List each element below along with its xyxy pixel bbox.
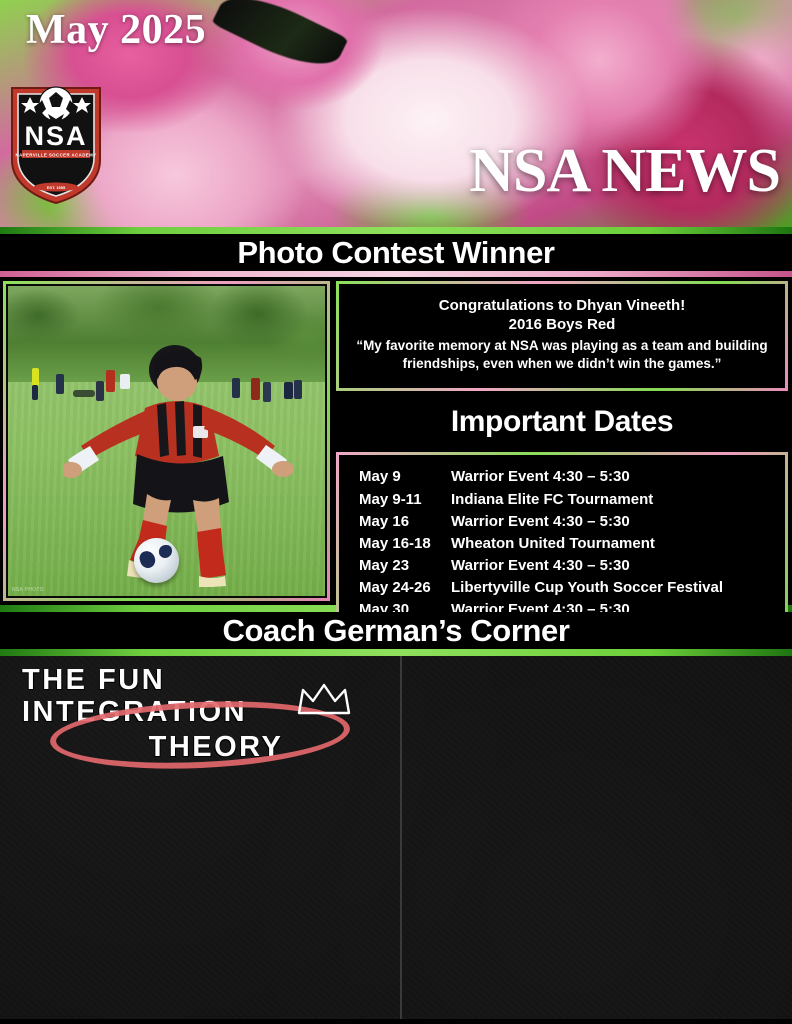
- important-date-event: Warrior Event 4:30 – 5:30: [451, 511, 783, 533]
- important-dates-title-bar: Important Dates: [336, 401, 788, 446]
- logo-established: EST. 1955: [47, 185, 66, 190]
- important-date-row: May 9Warrior Event 4:30 – 5:30: [359, 466, 783, 488]
- winner-photo-frame: NSA PHOTO: [3, 281, 330, 601]
- important-date-when: May 16-18: [359, 533, 451, 555]
- important-date-event: Warrior Event 4:30 – 5:30: [451, 466, 783, 488]
- photo-contest-title: Photo Contest Winner: [237, 235, 554, 271]
- photo-contest-title-bar: Photo Contest Winner: [0, 234, 792, 271]
- winner-announcement-box: Congratulations to Dhyan Vineeth! 2016 B…: [336, 281, 788, 391]
- important-date-event: Wheaton United Tournament: [451, 533, 783, 555]
- important-date-event: Warrior Event 4:30 – 5:30: [451, 555, 783, 577]
- photo-soccer-ball: [134, 538, 179, 583]
- publication-title: NSA NEWS: [469, 140, 780, 202]
- photo-credit: NSA PHOTO: [12, 587, 44, 593]
- month-label: May 2025: [26, 6, 206, 54]
- newsletter-page: May 2025 NSA NEWS NSA NAPERVILLE SOCCER …: [0, 0, 792, 1024]
- important-date-event: Libertyville Cup Youth Soccer Festival: [451, 577, 783, 599]
- important-date-when: May 24-26: [359, 577, 451, 599]
- important-date-when: May 16: [359, 511, 451, 533]
- crown-icon: [296, 682, 352, 716]
- coach-corner-title-bar: Coach German’s Corner: [0, 612, 792, 649]
- photo-contest-section: NSA PHOTO Congratulations to Dhyan Vinee…: [0, 277, 792, 605]
- photo-main-player: [63, 342, 293, 587]
- important-date-row: May 24-26Libertyville Cup Youth Soccer F…: [359, 577, 783, 599]
- logo-initials: NSA: [24, 121, 87, 151]
- divider-green-3: [0, 649, 792, 656]
- nsa-logo: NSA NAPERVILLE SOCCER ACADEMY EST. 1955: [8, 82, 104, 206]
- winner-quote: “My favorite memory at NSA was playing a…: [355, 337, 769, 372]
- important-date-event: Indiana Elite FC Tournament: [451, 489, 783, 511]
- infographic-right-panel: THE ROLE OF “FUN” Positive movement expe…: [400, 656, 792, 1019]
- logo-org-name: NAPERVILLE SOCCER ACADEMY: [16, 153, 97, 158]
- important-date-row: May 16Warrior Event 4:30 – 5:30: [359, 511, 783, 533]
- winner-photo: NSA PHOTO: [8, 286, 325, 596]
- coach-corner-title: Coach German’s Corner: [222, 613, 569, 649]
- winner-team-line: 2016 Boys Red: [355, 315, 769, 334]
- important-dates-title: Important Dates: [451, 405, 673, 438]
- winner-congrats-line: Congratulations to Dhyan Vineeth!: [355, 296, 769, 315]
- fun-integration-infographic: THE FUN INTEGRATION THEORY: [0, 656, 792, 1019]
- important-date-when: May 9-11: [359, 489, 451, 511]
- important-date-row: May 16-18Wheaton United Tournament: [359, 533, 783, 555]
- important-date-when: May 23: [359, 555, 451, 577]
- nsa-shield-icon: NSA NAPERVILLE SOCCER ACADEMY EST. 1955: [8, 82, 104, 206]
- important-dates-list: May 9Warrior Event 4:30 – 5:30May 9-11In…: [341, 457, 783, 630]
- important-date-when: May 9: [359, 466, 451, 488]
- important-dates-box: May 9Warrior Event 4:30 – 5:30May 9-11In…: [336, 452, 788, 635]
- divider-green-top: [0, 227, 792, 234]
- important-date-row: May 9-11Indiana Elite FC Tournament: [359, 489, 783, 511]
- contest-right-column: Congratulations to Dhyan Vineeth! 2016 B…: [336, 281, 788, 636]
- infographic-left-panel: THE FUN INTEGRATION THEORY: [0, 656, 397, 1019]
- header-banner: May 2025 NSA NEWS NSA NAPERVILLE SOCCER …: [0, 0, 792, 227]
- important-date-row: May 23Warrior Event 4:30 – 5:30: [359, 555, 783, 577]
